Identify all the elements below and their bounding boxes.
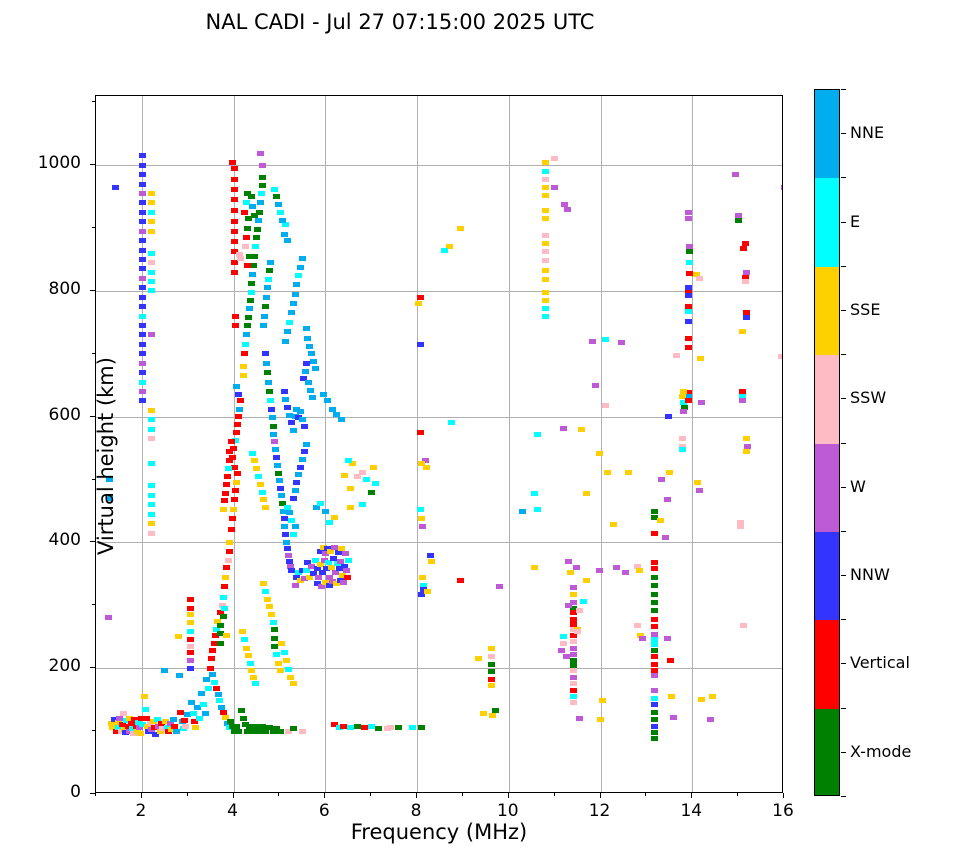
data-point bbox=[345, 458, 352, 463]
data-point bbox=[187, 644, 194, 649]
data-point bbox=[148, 191, 155, 196]
data-point bbox=[139, 238, 146, 243]
data-point bbox=[139, 191, 146, 196]
data-point bbox=[225, 558, 232, 563]
data-point bbox=[370, 465, 377, 470]
colorbar-label-ssw: SSW bbox=[850, 388, 886, 407]
data-point bbox=[686, 260, 693, 265]
y-tick-label: 400 bbox=[11, 530, 81, 550]
colorbar-segment-ssw[interactable] bbox=[815, 355, 839, 443]
data-point bbox=[574, 629, 581, 634]
data-point bbox=[225, 466, 232, 471]
data-point bbox=[324, 398, 331, 403]
data-point bbox=[181, 718, 188, 723]
gridline-horizontal bbox=[96, 668, 782, 669]
x-tick-minor bbox=[645, 793, 646, 796]
data-point bbox=[230, 507, 237, 512]
data-point bbox=[295, 472, 302, 477]
gridline-vertical bbox=[509, 96, 510, 792]
data-point bbox=[259, 183, 266, 188]
data-point bbox=[139, 351, 146, 356]
data-point bbox=[264, 597, 271, 602]
data-point bbox=[278, 493, 285, 498]
data-point bbox=[570, 592, 577, 597]
data-point bbox=[232, 488, 239, 493]
data-point bbox=[139, 332, 146, 337]
data-point bbox=[148, 493, 155, 498]
x-tick bbox=[416, 793, 417, 798]
data-point bbox=[475, 656, 482, 661]
x-tick-label: 16 bbox=[753, 801, 813, 821]
data-point bbox=[192, 725, 199, 730]
data-point bbox=[139, 304, 146, 309]
data-point bbox=[301, 424, 308, 429]
data-point bbox=[240, 716, 247, 721]
data-point bbox=[742, 279, 749, 284]
data-point bbox=[282, 339, 289, 344]
data-point bbox=[264, 370, 271, 375]
data-point bbox=[220, 614, 227, 619]
colorbar-segment-x-mode[interactable] bbox=[815, 709, 839, 796]
data-point bbox=[570, 681, 577, 686]
data-point bbox=[636, 568, 643, 573]
y-tick-label: 0 bbox=[11, 782, 81, 802]
data-point bbox=[299, 729, 306, 734]
data-point bbox=[253, 235, 260, 240]
data-point bbox=[651, 509, 658, 514]
data-point bbox=[267, 260, 274, 265]
data-point bbox=[665, 414, 672, 419]
data-point bbox=[137, 731, 144, 736]
data-point bbox=[250, 263, 257, 268]
data-point bbox=[262, 304, 269, 309]
data-point bbox=[457, 226, 464, 231]
data-point bbox=[564, 207, 571, 212]
data-point bbox=[651, 717, 658, 722]
data-point bbox=[235, 392, 242, 397]
data-point bbox=[139, 323, 146, 328]
data-point bbox=[292, 292, 299, 297]
data-point bbox=[739, 329, 746, 334]
data-point bbox=[260, 323, 267, 328]
data-point bbox=[266, 389, 273, 394]
data-point bbox=[209, 672, 216, 677]
data-point bbox=[673, 353, 680, 358]
data-point bbox=[496, 584, 503, 589]
data-point bbox=[686, 249, 693, 254]
data-point bbox=[308, 351, 315, 356]
data-point bbox=[238, 708, 245, 713]
data-point bbox=[274, 463, 281, 468]
data-point bbox=[372, 481, 379, 486]
data-point bbox=[709, 694, 716, 699]
data-point bbox=[679, 447, 686, 452]
data-point bbox=[141, 694, 148, 699]
data-point bbox=[277, 486, 284, 491]
data-point bbox=[531, 491, 538, 496]
data-point bbox=[542, 258, 549, 263]
data-point bbox=[441, 248, 448, 253]
data-point bbox=[668, 694, 675, 699]
y-tick-minor bbox=[92, 101, 95, 102]
data-point bbox=[139, 276, 146, 281]
data-point bbox=[279, 218, 286, 223]
data-point bbox=[293, 480, 300, 485]
data-point bbox=[286, 320, 293, 325]
data-point bbox=[696, 276, 703, 281]
data-point bbox=[235, 414, 242, 419]
data-point bbox=[273, 455, 280, 460]
data-point bbox=[651, 724, 658, 729]
data-point bbox=[241, 351, 248, 356]
data-point bbox=[781, 185, 784, 190]
data-point bbox=[387, 725, 394, 730]
data-point bbox=[580, 599, 587, 604]
data-point bbox=[139, 398, 146, 403]
data-point bbox=[417, 430, 424, 435]
data-point bbox=[263, 295, 270, 300]
colorbar-boundary-tick bbox=[841, 177, 846, 178]
data-point bbox=[428, 559, 435, 564]
data-point bbox=[737, 524, 744, 529]
colorbar-boundary-tick bbox=[841, 266, 846, 267]
data-point bbox=[198, 691, 205, 696]
data-point bbox=[196, 716, 203, 721]
data-point bbox=[268, 407, 275, 412]
data-point bbox=[216, 698, 223, 703]
gridline-vertical bbox=[417, 96, 418, 792]
data-point bbox=[187, 597, 194, 602]
data-point bbox=[625, 470, 632, 475]
data-point bbox=[148, 288, 155, 293]
data-point bbox=[224, 474, 231, 479]
data-point bbox=[287, 675, 294, 680]
data-point bbox=[257, 482, 264, 487]
data-point bbox=[375, 726, 382, 731]
data-point bbox=[254, 227, 261, 232]
data-point bbox=[651, 702, 658, 707]
data-point bbox=[651, 730, 658, 735]
data-point bbox=[139, 200, 146, 205]
gridline-vertical bbox=[692, 96, 693, 792]
x-tick-label: 8 bbox=[386, 801, 446, 821]
data-point bbox=[232, 314, 239, 319]
data-point bbox=[542, 216, 549, 221]
data-point bbox=[284, 405, 291, 410]
data-point bbox=[176, 673, 183, 678]
data-point bbox=[622, 570, 629, 575]
colorbar-tick bbox=[841, 575, 846, 576]
data-point bbox=[570, 700, 577, 705]
y-tick-label: 1000 bbox=[11, 153, 81, 173]
data-point bbox=[270, 620, 277, 625]
data-point bbox=[519, 509, 526, 514]
data-point bbox=[732, 172, 739, 177]
colorbar-tick bbox=[841, 310, 846, 311]
data-point bbox=[249, 451, 256, 456]
data-point bbox=[542, 290, 549, 295]
data-point bbox=[277, 729, 284, 734]
data-point bbox=[139, 172, 146, 177]
data-point bbox=[248, 668, 255, 673]
colorbar-boundary-tick bbox=[841, 619, 846, 620]
data-point bbox=[208, 656, 215, 661]
data-point bbox=[255, 218, 262, 223]
colorbar-label-x-mode: X-mode bbox=[850, 742, 911, 761]
x-tick-minor bbox=[187, 793, 188, 796]
data-point bbox=[244, 323, 251, 328]
data-point bbox=[148, 427, 155, 432]
data-point bbox=[268, 612, 275, 617]
data-point bbox=[269, 415, 276, 420]
data-point bbox=[303, 442, 310, 447]
data-point bbox=[262, 589, 269, 594]
x-axis-label: Frequency (MHz) bbox=[95, 820, 783, 844]
data-point bbox=[288, 310, 295, 315]
data-point bbox=[613, 565, 620, 570]
data-point bbox=[299, 256, 306, 261]
data-point bbox=[313, 505, 320, 510]
data-point bbox=[448, 420, 455, 425]
data-point bbox=[148, 279, 155, 284]
x-tick bbox=[600, 793, 601, 798]
data-point bbox=[217, 641, 224, 646]
data-point bbox=[419, 524, 426, 529]
data-point bbox=[299, 457, 306, 462]
data-point bbox=[542, 233, 549, 238]
data-point bbox=[248, 281, 255, 286]
data-point bbox=[231, 229, 238, 234]
colorbar-segment-w[interactable] bbox=[815, 444, 839, 532]
data-point bbox=[685, 210, 692, 215]
data-point bbox=[322, 509, 329, 514]
data-point bbox=[651, 575, 658, 580]
data-point bbox=[231, 270, 238, 275]
data-point bbox=[148, 521, 155, 526]
data-point bbox=[277, 668, 284, 673]
data-point bbox=[226, 458, 233, 463]
data-point bbox=[697, 356, 704, 361]
data-point bbox=[639, 636, 646, 641]
data-point bbox=[290, 726, 297, 731]
data-point bbox=[570, 646, 577, 651]
data-point bbox=[570, 652, 577, 657]
plot-area[interactable] bbox=[95, 95, 783, 793]
data-point bbox=[229, 160, 236, 165]
data-point bbox=[488, 646, 495, 651]
data-point bbox=[670, 715, 677, 720]
data-point bbox=[651, 662, 658, 667]
data-point bbox=[148, 229, 155, 234]
data-point bbox=[651, 648, 658, 653]
data-point bbox=[565, 559, 572, 564]
data-point bbox=[592, 383, 599, 388]
data-point bbox=[261, 314, 268, 319]
data-point bbox=[651, 688, 658, 693]
data-point bbox=[558, 648, 565, 653]
data-point bbox=[139, 389, 146, 394]
data-point bbox=[221, 498, 228, 503]
data-point bbox=[243, 235, 250, 240]
data-point bbox=[231, 197, 238, 202]
data-point bbox=[743, 436, 750, 441]
data-point bbox=[576, 608, 583, 613]
data-point bbox=[284, 238, 291, 243]
data-point bbox=[281, 232, 288, 237]
data-point bbox=[278, 641, 285, 646]
data-point bbox=[418, 516, 425, 521]
data-point bbox=[685, 309, 692, 314]
data-point bbox=[139, 380, 146, 385]
data-point bbox=[281, 516, 288, 521]
data-point bbox=[281, 650, 288, 655]
x-tick-minor bbox=[554, 793, 555, 796]
colorbar[interactable] bbox=[814, 89, 840, 796]
data-point bbox=[354, 474, 361, 479]
data-point bbox=[231, 465, 238, 470]
data-point bbox=[563, 654, 570, 659]
data-point bbox=[307, 388, 314, 393]
data-point bbox=[685, 319, 692, 324]
data-point bbox=[249, 272, 256, 277]
colorbar-segment-e[interactable] bbox=[815, 178, 839, 266]
data-point bbox=[281, 389, 288, 394]
data-point bbox=[651, 608, 658, 613]
data-point bbox=[284, 546, 291, 551]
data-point bbox=[242, 342, 249, 347]
data-point bbox=[148, 417, 155, 422]
data-point bbox=[139, 342, 146, 347]
data-point bbox=[205, 686, 212, 691]
data-point bbox=[664, 497, 671, 502]
data-point bbox=[244, 226, 251, 231]
data-point bbox=[417, 342, 424, 347]
data-point bbox=[531, 565, 538, 570]
data-point bbox=[231, 260, 238, 265]
data-point bbox=[220, 507, 227, 512]
data-point bbox=[292, 583, 299, 588]
data-point bbox=[211, 680, 218, 685]
data-point bbox=[271, 627, 278, 632]
x-tick-label: 2 bbox=[111, 801, 171, 821]
y-tick-label: 200 bbox=[11, 656, 81, 676]
data-point bbox=[148, 200, 155, 205]
data-point bbox=[423, 465, 430, 470]
data-point bbox=[253, 466, 260, 471]
data-point bbox=[303, 326, 310, 331]
data-point bbox=[343, 568, 350, 573]
data-point bbox=[290, 428, 297, 433]
data-point bbox=[139, 285, 146, 290]
x-tick-label: 10 bbox=[478, 801, 538, 821]
data-point bbox=[368, 490, 375, 495]
data-point bbox=[551, 156, 558, 161]
data-point bbox=[283, 540, 290, 545]
data-point bbox=[284, 505, 291, 510]
data-point bbox=[489, 713, 496, 718]
colorbar-label-e: E bbox=[850, 212, 860, 231]
data-point bbox=[419, 575, 426, 580]
data-point bbox=[148, 251, 155, 256]
data-point bbox=[315, 575, 322, 580]
data-point bbox=[542, 306, 549, 311]
colorbar-segment-sse[interactable] bbox=[815, 267, 839, 355]
data-point bbox=[480, 711, 487, 716]
gridline-horizontal bbox=[96, 542, 782, 543]
data-point bbox=[282, 532, 289, 537]
data-point bbox=[187, 606, 194, 611]
data-point bbox=[259, 163, 266, 168]
data-point bbox=[657, 518, 664, 523]
x-tick-minor bbox=[370, 793, 371, 796]
data-point bbox=[266, 604, 273, 609]
data-point bbox=[293, 282, 300, 287]
data-point bbox=[292, 524, 299, 529]
data-point bbox=[139, 361, 146, 366]
data-point bbox=[542, 208, 549, 213]
data-point bbox=[148, 219, 155, 224]
data-point bbox=[282, 222, 289, 227]
data-point bbox=[265, 380, 272, 385]
data-point bbox=[226, 549, 233, 554]
data-point bbox=[276, 478, 283, 483]
data-point bbox=[707, 717, 714, 722]
data-point bbox=[651, 642, 658, 647]
data-point bbox=[235, 729, 242, 734]
data-point bbox=[347, 505, 354, 510]
colorbar-segment-nnw[interactable] bbox=[815, 532, 839, 620]
data-point bbox=[570, 675, 577, 680]
data-point bbox=[488, 677, 495, 682]
data-point bbox=[275, 471, 282, 476]
data-point bbox=[288, 518, 295, 523]
data-point bbox=[578, 427, 585, 432]
x-tick bbox=[783, 793, 784, 798]
data-point bbox=[297, 465, 304, 470]
data-point bbox=[424, 589, 431, 594]
data-point bbox=[148, 270, 155, 275]
colorbar-boundary-tick bbox=[841, 443, 846, 444]
data-point bbox=[418, 725, 425, 730]
data-point bbox=[207, 666, 214, 671]
data-point bbox=[778, 354, 783, 359]
data-point bbox=[213, 686, 220, 691]
data-point bbox=[427, 553, 434, 558]
data-point bbox=[139, 314, 146, 319]
data-point bbox=[271, 644, 278, 649]
data-point bbox=[244, 263, 251, 268]
data-point bbox=[345, 558, 352, 563]
data-point bbox=[740, 246, 747, 251]
colorbar-label-sse: SSE bbox=[850, 300, 880, 319]
data-point bbox=[651, 566, 658, 571]
data-point bbox=[139, 182, 146, 187]
data-point bbox=[262, 505, 269, 510]
data-point bbox=[234, 471, 241, 476]
data-point bbox=[182, 724, 189, 729]
data-point bbox=[288, 420, 295, 425]
data-point bbox=[417, 507, 424, 512]
data-point bbox=[231, 497, 238, 502]
data-point bbox=[297, 409, 304, 414]
colorbar-segment-vertical[interactable] bbox=[815, 620, 839, 708]
data-point bbox=[246, 306, 253, 311]
data-point bbox=[570, 694, 577, 699]
data-point bbox=[597, 717, 604, 722]
data-point bbox=[542, 277, 549, 282]
colorbar-segment-nne[interactable] bbox=[815, 90, 839, 178]
data-point bbox=[290, 681, 297, 686]
